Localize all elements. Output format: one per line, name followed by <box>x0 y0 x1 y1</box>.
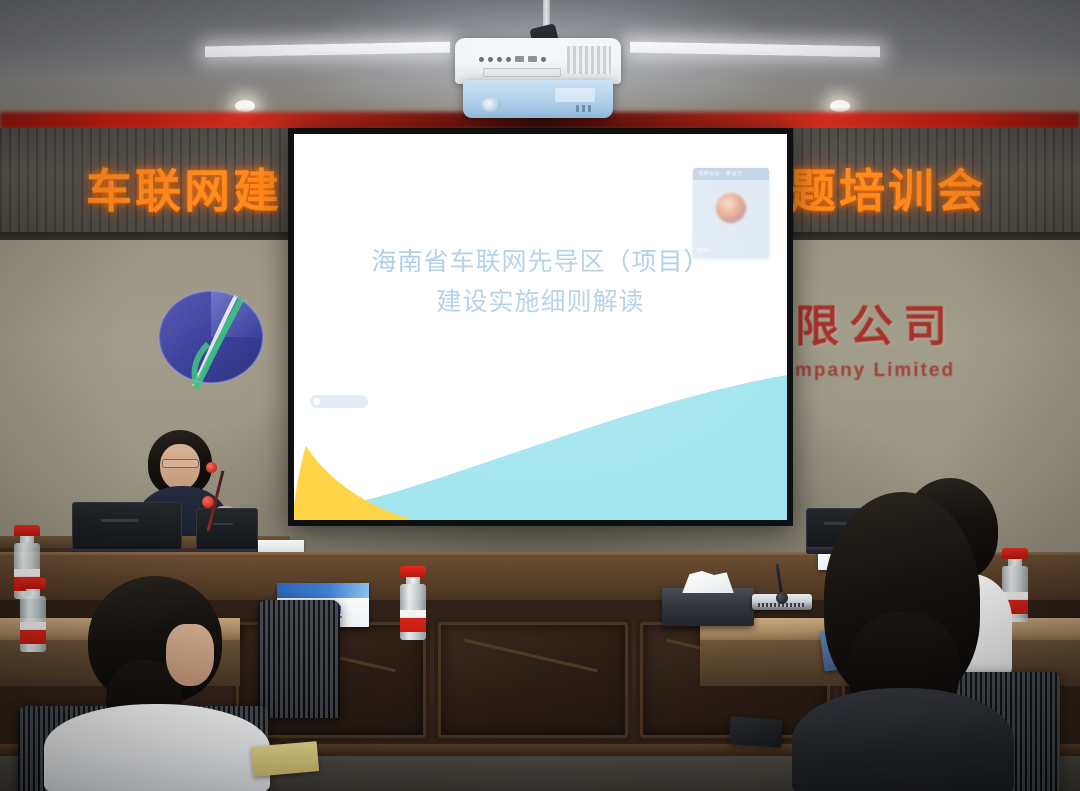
notebook[interactable] <box>251 741 319 777</box>
presenter-mic-head <box>206 462 217 473</box>
ceiling-downlight-left <box>235 100 255 112</box>
laptop-lid <box>196 508 258 550</box>
bottle-label <box>400 610 426 632</box>
projector-panel <box>483 68 561 77</box>
pip-title-label: 视频会议 · 参会方 <box>698 170 742 177</box>
projection-screen-frame: 海南省车联网先导区（项目） 建设实施细则解读 视频会议 · 参会方 摄像头 <box>288 128 793 526</box>
projection-screen: 海南省车联网先导区（项目） 建设实施细则解读 视频会议 · 参会方 摄像头 <box>294 134 787 520</box>
bottle-body-wrap <box>400 584 426 640</box>
person-attendee-foreground-right <box>788 492 1018 791</box>
bottle-neck <box>20 536 34 543</box>
laptop-lid <box>72 502 182 550</box>
smartphone[interactable] <box>729 716 783 748</box>
projector-vent <box>567 46 611 74</box>
bottle-cap <box>14 525 40 536</box>
attendee-torso <box>792 688 1014 791</box>
ceiling-projector-body <box>463 80 613 118</box>
attendee-neck <box>166 624 214 686</box>
video-call-pip-panel[interactable]: 视频会议 · 参会方 摄像头 <box>693 168 769 258</box>
slide-title-line2: 建设实施细则解读 <box>294 282 787 322</box>
bottle-neck <box>26 589 40 596</box>
ceiling-projector-top <box>455 38 621 84</box>
bottle-neck <box>406 577 420 584</box>
bottle-body-wrap <box>20 596 46 652</box>
company-globe-logo <box>150 282 272 392</box>
slide-yellow-wedge <box>294 440 422 520</box>
glasses-icon <box>162 459 199 468</box>
water-bottle[interactable] <box>20 578 46 652</box>
wood-panel <box>438 622 628 738</box>
mic-head <box>776 592 788 604</box>
projector-label <box>555 88 595 102</box>
pip-participant-avatar <box>716 193 746 223</box>
bottle-cap <box>400 566 426 577</box>
projector-indicator-lights <box>576 105 591 112</box>
slide-badge <box>310 395 368 408</box>
bottle-cap <box>20 578 46 589</box>
ceiling-downlight-right <box>830 100 850 112</box>
wall-sign-english: mpany Limited <box>795 360 1025 382</box>
nameplate-header-bar <box>277 583 369 598</box>
bottle-label <box>20 622 46 644</box>
person-attendee-foreground-left <box>48 576 264 791</box>
wall-sign-chinese: 限公司 <box>795 290 1025 354</box>
banner-text-right: 题培训会 <box>790 160 986 222</box>
pip-footer-label: 摄像头 <box>697 247 712 254</box>
water-bottle[interactable] <box>400 566 426 640</box>
projector-ports <box>479 56 546 62</box>
laptop-secondary[interactable] <box>196 508 258 556</box>
conference-room-scene: 车联网建 题培训会 限公司 mp <box>0 0 1080 791</box>
tissue-sheet <box>682 571 734 593</box>
laptop-presenter[interactable] <box>72 502 182 556</box>
projector-lens-icon <box>481 98 501 112</box>
tissue-box[interactable] <box>662 588 754 626</box>
office-chair-mid[interactable] <box>258 600 340 718</box>
banner-text-left: 车联网建 <box>86 160 282 222</box>
attendee-torso <box>44 704 270 791</box>
wall-company-sign: 限公司 mpany Limited <box>795 290 1025 386</box>
